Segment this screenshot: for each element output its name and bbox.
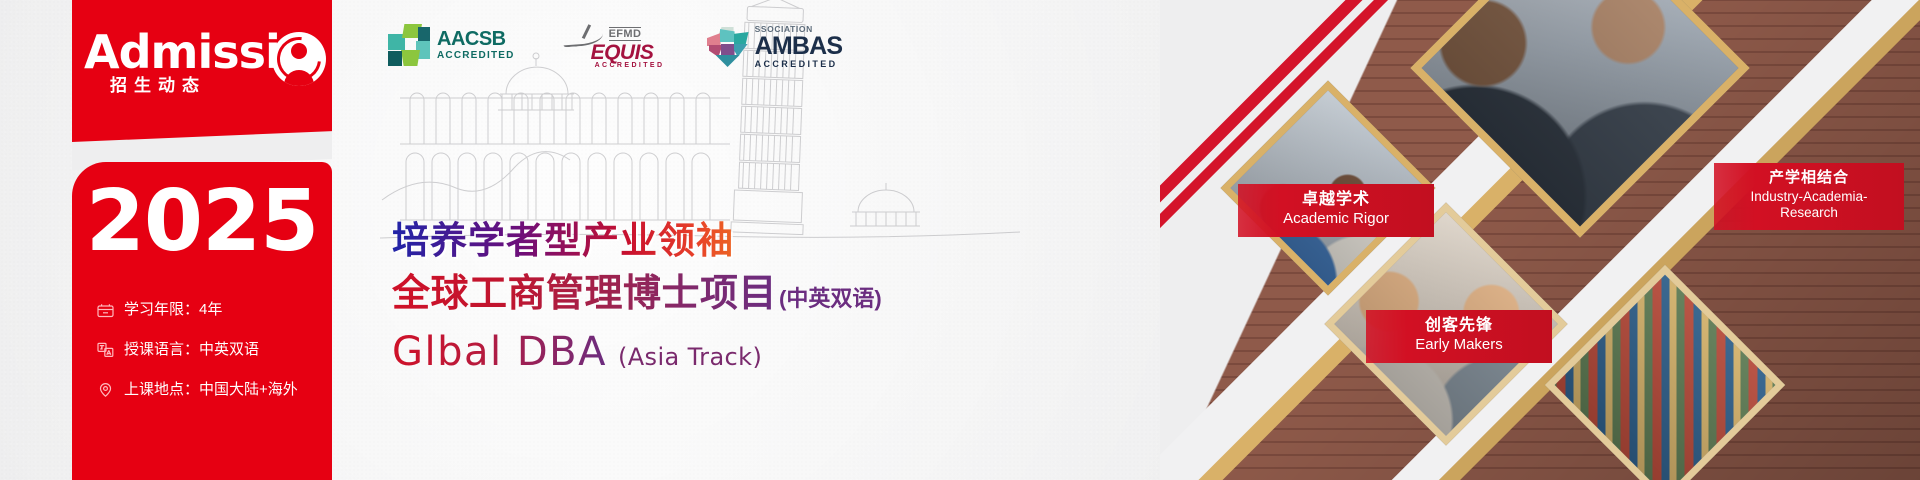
program-name-en: Glbal DBA (392, 328, 607, 376)
calendar-icon (96, 301, 114, 319)
admission-chinese-label: 招生动态 (110, 71, 206, 96)
label-early-makers: 创客先锋 Early Makers (1366, 310, 1552, 363)
label-industry-academia: 产学相结合 Industry-Academia-Research (1714, 163, 1904, 230)
label-industry-academia-cn: 产学相结合 (1730, 170, 1888, 187)
location-pin-icon (96, 381, 114, 399)
equis-subtitle: ACCREDITED (595, 62, 665, 69)
fact-duration-text: 学习年限：4年 (124, 300, 222, 319)
program-name-cn: 全球工商管理博士项目 (392, 271, 777, 317)
fact-location: 上课地点：中国大陆+海外 (96, 380, 332, 399)
fact-language: 授课语言：中英双语 (96, 340, 332, 359)
label-academic-rigor-en: Academic Rigor (1254, 211, 1418, 228)
equis-accreditation-logo: EFMD EQUIS ACCREDITED (561, 24, 661, 70)
left-red-panel: Admissi 招生动态 2025 学习年限：4年 (72, 0, 332, 480)
aacsb-title: AACSB (437, 29, 515, 50)
amba-diamond-icon (707, 27, 749, 67)
program-name-cn-row: 全球工商管理博士项目 (中英双语) (392, 271, 882, 322)
aacsb-subtitle: ACCREDITED (437, 50, 515, 62)
label-academic-rigor-cn: 卓越学术 (1254, 191, 1418, 209)
aacsb-pinwheel-icon (388, 24, 430, 66)
person-in-circle-icon (272, 32, 326, 86)
amba-title: AMBAS (755, 34, 843, 59)
photo-collage: 卓越学术 Academic Rigor 产学相结合 Industry-Acade… (1160, 0, 1920, 480)
fact-duration: 学习年限：4年 (96, 300, 332, 319)
admission-logo: Admissi 招生动态 (72, 26, 332, 112)
efmd-label: EFMD (609, 27, 642, 41)
program-name-cn-parenthetical: (中英双语) (779, 276, 882, 322)
label-academic-rigor: 卓越学术 Academic Rigor (1238, 184, 1434, 237)
amba-accreditation-logo: SSOCIATION AMBAS ACCREDITED (707, 24, 843, 70)
year-heading: 2025 (72, 176, 332, 268)
program-name-en-row: Glbal DBA (Asia Track) (392, 328, 882, 376)
label-early-makers-en: Early Makers (1382, 337, 1536, 354)
tagline: 培养学者型产业领袖 (392, 218, 882, 264)
program-facts-list: 学习年限：4年 授课语言：中英双语 (96, 300, 332, 420)
amba-subtitle: ACCREDITED (755, 59, 843, 70)
aacsb-accreditation-logo: AACSB ACCREDITED (388, 24, 515, 66)
admission-banner: Admissi 招生动态 2025 学习年限：4年 (0, 0, 1920, 480)
label-industry-academia-en: Industry-Academia-Research (1730, 189, 1888, 221)
headline-block: 培养学者型产业领袖 全球工商管理博士项目 (中英双语) Glbal DBA (A… (392, 218, 882, 376)
fact-language-text: 授课语言：中英双语 (124, 340, 259, 359)
language-icon (96, 341, 114, 359)
program-track-label: (Asia Track) (618, 343, 762, 371)
accreditation-logos: AACSB ACCREDITED EFMD EQUIS ACCREDITED S… (388, 24, 842, 70)
fact-location-text: 上课地点：中国大陆+海外 (124, 380, 298, 399)
label-early-makers-cn: 创客先锋 (1382, 317, 1536, 335)
